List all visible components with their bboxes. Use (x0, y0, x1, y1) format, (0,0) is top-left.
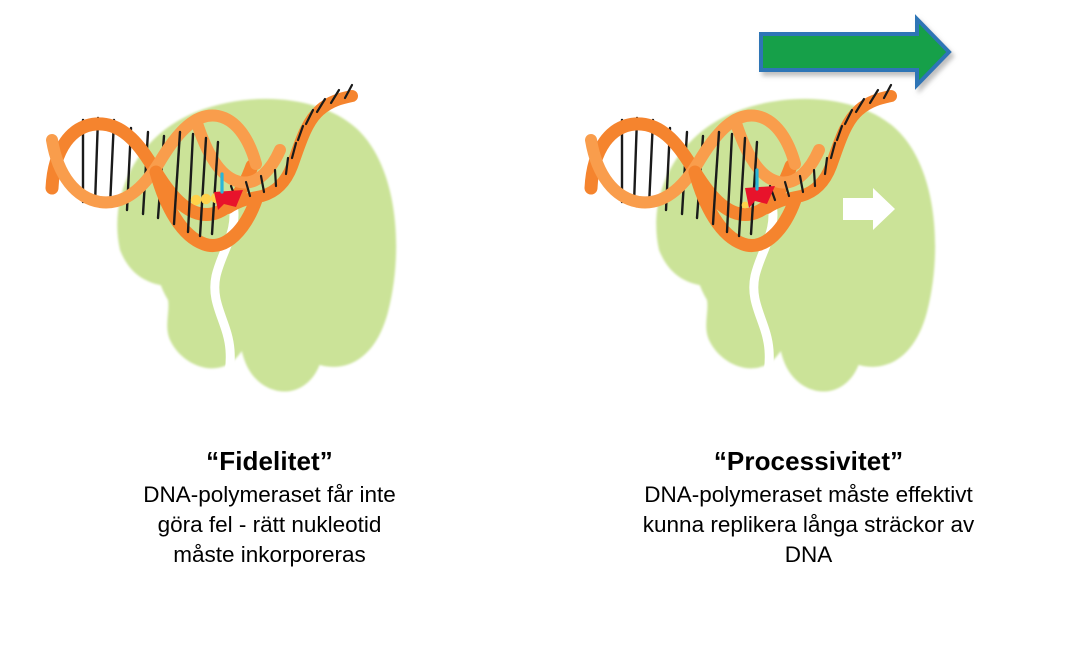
enzyme-blob (117, 99, 396, 392)
caption-line: DNA (599, 540, 1019, 570)
caption-title-fidelity: “Fidelitet” (0, 444, 539, 478)
caption-line: DNA-polymeraset måste effektivt (599, 480, 1019, 510)
panel-processivity: “Processivitet” DNA-polymeraset måste ef… (539, 0, 1078, 666)
caption-body-fidelity: DNA-polymeraset får inte göra fel - rätt… (60, 480, 480, 570)
caption-line: DNA-polymeraset får inte (60, 480, 480, 510)
caption-line: göra fel - rätt nukleotid (60, 510, 480, 540)
slide-canvas: “Fidelitet” DNA-polymeraset får inte gör… (0, 0, 1078, 666)
motion-arrow-green (761, 19, 949, 85)
caption-body-processivity: DNA-polymeraset måste effektivt kunna re… (599, 480, 1019, 570)
caption-line: måste inkorporeras (60, 540, 480, 570)
figure-fidelity (0, 0, 539, 440)
enzyme-blob (656, 99, 935, 392)
caption-processivity: “Processivitet” DNA-polymeraset måste ef… (539, 444, 1078, 570)
caption-fidelity: “Fidelitet” DNA-polymeraset får inte gör… (0, 444, 539, 570)
caption-line: kunna replikera långa sträckor av (599, 510, 1019, 540)
figure-processivity (539, 0, 1078, 440)
caption-title-processivity: “Processivitet” (539, 444, 1078, 478)
panel-fidelity: “Fidelitet” DNA-polymeraset får inte gör… (0, 0, 539, 666)
